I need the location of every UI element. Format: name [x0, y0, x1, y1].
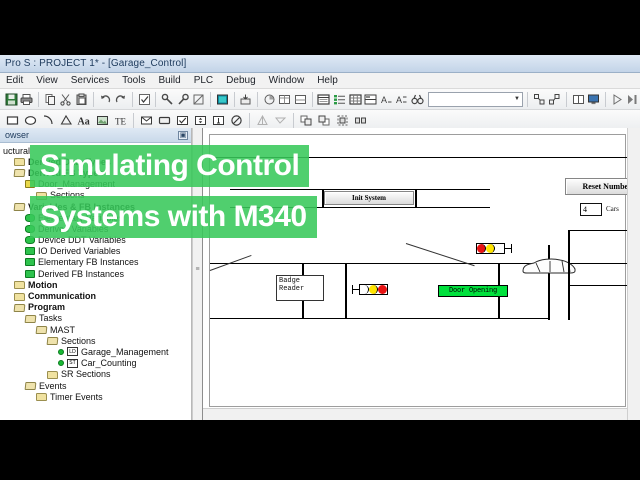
rectangle-icon[interactable]	[4, 112, 21, 129]
menu-item-edit[interactable]: Edit	[6, 75, 23, 86]
traffic-light-body	[359, 284, 388, 295]
tree-item-label: Elementary FB Instances	[38, 257, 139, 267]
menu-item-services[interactable]: Services	[71, 75, 109, 86]
goto-reference-icon[interactable]	[547, 91, 562, 108]
cut-icon[interactable]	[59, 91, 74, 108]
polyline-icon[interactable]	[58, 112, 75, 129]
undo-icon[interactable]	[98, 91, 113, 108]
traffic-light-body	[476, 243, 505, 254]
badge-reader-box: Badge Reader	[276, 275, 324, 301]
toolbar-separator	[605, 92, 606, 107]
tree-item-label: MAST	[50, 325, 75, 335]
message-icon[interactable]	[138, 112, 155, 129]
right-box-left	[568, 230, 570, 320]
folder-open-icon	[14, 303, 25, 312]
toolbar-separator	[132, 92, 133, 107]
window-title: Pro S : PROJECT 1* - [Garage_Control]	[5, 58, 186, 69]
ungroup-icon[interactable]	[352, 112, 369, 129]
tree-item-label: Timer Events	[50, 392, 103, 402]
toolbar-separator	[38, 92, 39, 107]
lamp-red	[477, 244, 486, 253]
send-back-icon[interactable]	[316, 112, 333, 129]
badge-reader-line2: Reader	[279, 285, 321, 293]
overlay-text-line1: Simulating Control	[40, 151, 299, 181]
folder-open-icon	[25, 314, 36, 323]
toolbar-separator	[155, 92, 156, 107]
badge-reader-line1: Badge	[279, 277, 321, 285]
grid-icon[interactable]	[348, 91, 363, 108]
tree-item-label: IO Derived Variables	[38, 246, 120, 256]
tree-item[interactable]: SR Sections	[0, 369, 191, 380]
paste-icon[interactable]	[74, 91, 89, 108]
project-browser-title: owser	[5, 130, 29, 140]
menu-item-window[interactable]: Window	[269, 75, 305, 86]
cars-count-label: Cars	[606, 205, 619, 213]
overlay-title-line2: Systems with M340	[30, 196, 317, 238]
menu-item-build[interactable]: Build	[158, 75, 180, 86]
title-bar: Pro S : PROJECT 1* - [Garage_Control]	[0, 55, 640, 73]
lamp-green	[360, 285, 369, 294]
list-icon[interactable]	[332, 91, 347, 108]
folder-open-icon	[47, 336, 58, 345]
traffic-light-exit[interactable]	[352, 284, 388, 295]
tree-item[interactable]: Motion	[0, 279, 191, 290]
run-icon[interactable]	[610, 91, 625, 108]
align-icon[interactable]	[254, 112, 271, 129]
tree-item[interactable]: Communication	[0, 290, 191, 301]
toolbar-separator	[93, 92, 94, 107]
svg-text:Aa: Aa	[78, 116, 90, 127]
flip-icon[interactable]	[272, 112, 289, 129]
build-icon[interactable]	[176, 91, 191, 108]
variable-block-icon	[25, 270, 35, 278]
tree-item[interactable]: Derived FB Instances	[0, 268, 191, 279]
tree-item-label: SR Sections	[61, 369, 111, 379]
traffic-light-entrance[interactable]	[476, 243, 512, 254]
application-window: Pro S : PROJECT 1* - [Garage_Control] Ed…	[0, 55, 640, 421]
monitor-icon[interactable]	[587, 91, 602, 108]
tree-item-label: Motion	[28, 280, 58, 290]
screen-icon[interactable]	[215, 91, 230, 108]
toolbar-separator	[566, 92, 567, 107]
toolbar-separator	[133, 113, 134, 128]
find-icon[interactable]: A	[379, 91, 394, 108]
toolbar-separator	[312, 92, 313, 107]
replace-icon[interactable]: A	[395, 91, 410, 108]
init-system-button[interactable]: Init System	[324, 191, 414, 205]
menu-item-view[interactable]: View	[36, 75, 58, 86]
pie-icon[interactable]	[262, 91, 277, 108]
save-icon[interactable]	[4, 91, 19, 108]
screenshot-stage: Pro S : PROJECT 1* - [Garage_Control] Ed…	[0, 0, 640, 480]
lamp-red	[378, 285, 387, 294]
chevron-down-icon[interactable]: ▼	[514, 96, 520, 102]
tree-item-label: Communication	[28, 291, 96, 301]
search-combo[interactable]: ▼	[428, 92, 523, 107]
image-icon[interactable]	[94, 112, 111, 129]
tree-item[interactable]: Sections	[0, 335, 191, 346]
svg-text:TE: TE	[115, 116, 126, 126]
tree-item[interactable]: Timer Events	[0, 391, 191, 402]
tree-item-label: Garage_Management	[81, 347, 169, 357]
menu-item-debug[interactable]: Debug	[226, 75, 255, 86]
menu-item-tools[interactable]: Tools	[122, 75, 145, 86]
overlay-text-line2: Systems with M340	[40, 202, 307, 232]
print-icon[interactable]	[20, 91, 35, 108]
ellipse-icon[interactable]	[22, 112, 39, 129]
scrollbar-grip[interactable]: ≡	[195, 266, 201, 284]
folder-icon	[47, 370, 58, 379]
menu-item-help[interactable]: Help	[317, 75, 338, 86]
overlay-title-line1: Simulating Control	[30, 145, 309, 187]
folder-open-icon	[36, 325, 47, 334]
section-st-icon: ST	[67, 359, 78, 368]
table1-icon[interactable]	[278, 91, 293, 108]
status-dot	[58, 360, 64, 366]
analyze-icon[interactable]	[160, 91, 175, 108]
toolbar-primary: A A ▼	[0, 89, 640, 110]
menu-item-plc[interactable]: PLC	[194, 75, 213, 86]
table2-icon[interactable]	[293, 91, 308, 108]
tree-item-label: Program	[28, 302, 65, 312]
menu-bar: Edit View Services Tools Build PLC Debug…	[0, 73, 640, 89]
goto-definition-icon[interactable]	[532, 91, 547, 108]
folder-icon	[36, 392, 47, 401]
folder-icon	[14, 280, 25, 289]
post-mid	[345, 263, 347, 318]
status-dot	[58, 349, 64, 355]
toolbar-separator	[527, 92, 528, 107]
tree-item-label: Tasks	[39, 313, 62, 323]
toolbar-separator	[210, 92, 211, 107]
toolbar-separator	[234, 92, 235, 107]
folder-open-icon	[25, 381, 36, 390]
lamp-green	[495, 244, 504, 253]
letterbox-top	[0, 0, 640, 55]
project-browser-header: owser ▣	[0, 128, 191, 143]
link-icon[interactable]	[228, 112, 245, 129]
tree-item-label: uctural	[3, 146, 30, 156]
rebuild-icon[interactable]	[192, 91, 207, 108]
tree-item-label: Derived FB Instances	[38, 269, 124, 279]
spinner-icon[interactable]	[192, 112, 209, 129]
export-icon[interactable]	[238, 91, 253, 108]
step-icon[interactable]	[626, 91, 640, 108]
button-icon[interactable]	[156, 112, 173, 129]
lamp-yellow	[369, 285, 378, 294]
toolbar-separator	[249, 113, 250, 128]
door-opening-indicator: Door Opening	[438, 285, 508, 297]
letterbox-bottom	[0, 420, 640, 480]
toolbar-separator	[293, 113, 294, 128]
editor-vscrollbar[interactable]	[627, 128, 640, 421]
folder-open-icon	[14, 202, 25, 211]
bring-front-icon[interactable]	[298, 112, 315, 129]
text-edit-icon[interactable]: TE	[112, 112, 129, 129]
folder-open-icon	[14, 168, 25, 177]
close-icon[interactable]: ▣	[178, 131, 188, 140]
panel-icon[interactable]	[317, 91, 332, 108]
svg-text:A: A	[381, 95, 387, 105]
tree-item-label: Car_Counting	[81, 358, 137, 368]
split-view-icon[interactable]	[571, 91, 586, 108]
tree-item[interactable]: LDGarage_Management	[0, 346, 191, 357]
checkbox-icon[interactable]	[174, 112, 191, 129]
cars-count-field[interactable]: 4	[580, 203, 602, 216]
tree-item[interactable]: IO Derived Variables	[0, 246, 191, 257]
svg-text:A: A	[396, 95, 402, 105]
tree-item[interactable]: Elementary FB Instances	[0, 257, 191, 268]
tree-item[interactable]: STCar_Counting	[0, 358, 191, 369]
binoculars-icon[interactable]	[410, 91, 425, 108]
tree-item-label: Sections	[61, 336, 96, 346]
frame-line-1	[230, 189, 490, 190]
variable-block-icon	[25, 258, 35, 266]
wall-lower	[210, 318, 550, 319]
variable-block-icon	[25, 247, 35, 255]
folder-icon	[14, 157, 25, 166]
lamp-yellow	[486, 244, 495, 253]
input-icon[interactable]	[210, 112, 227, 129]
folder-icon	[14, 292, 25, 301]
frame-post-2	[415, 189, 417, 207]
text-icon[interactable]: Aa	[76, 112, 93, 129]
tree-item[interactable]: Events	[0, 380, 191, 391]
copy-icon[interactable]	[43, 91, 58, 108]
group-icon[interactable]	[334, 112, 351, 129]
columns-icon[interactable]	[363, 91, 378, 108]
toolbar-separator	[257, 92, 258, 107]
tree-item[interactable]: Tasks	[0, 313, 191, 324]
validate-icon[interactable]	[137, 91, 152, 108]
redo-icon[interactable]	[113, 91, 128, 108]
tree-item-label: Events	[39, 381, 67, 391]
arc-icon[interactable]	[40, 112, 57, 129]
tree-item[interactable]: Program	[0, 302, 191, 313]
section-ld-icon: LD	[67, 347, 78, 356]
tree-item[interactable]: MAST	[0, 324, 191, 335]
traffic-light-pole	[511, 244, 512, 253]
